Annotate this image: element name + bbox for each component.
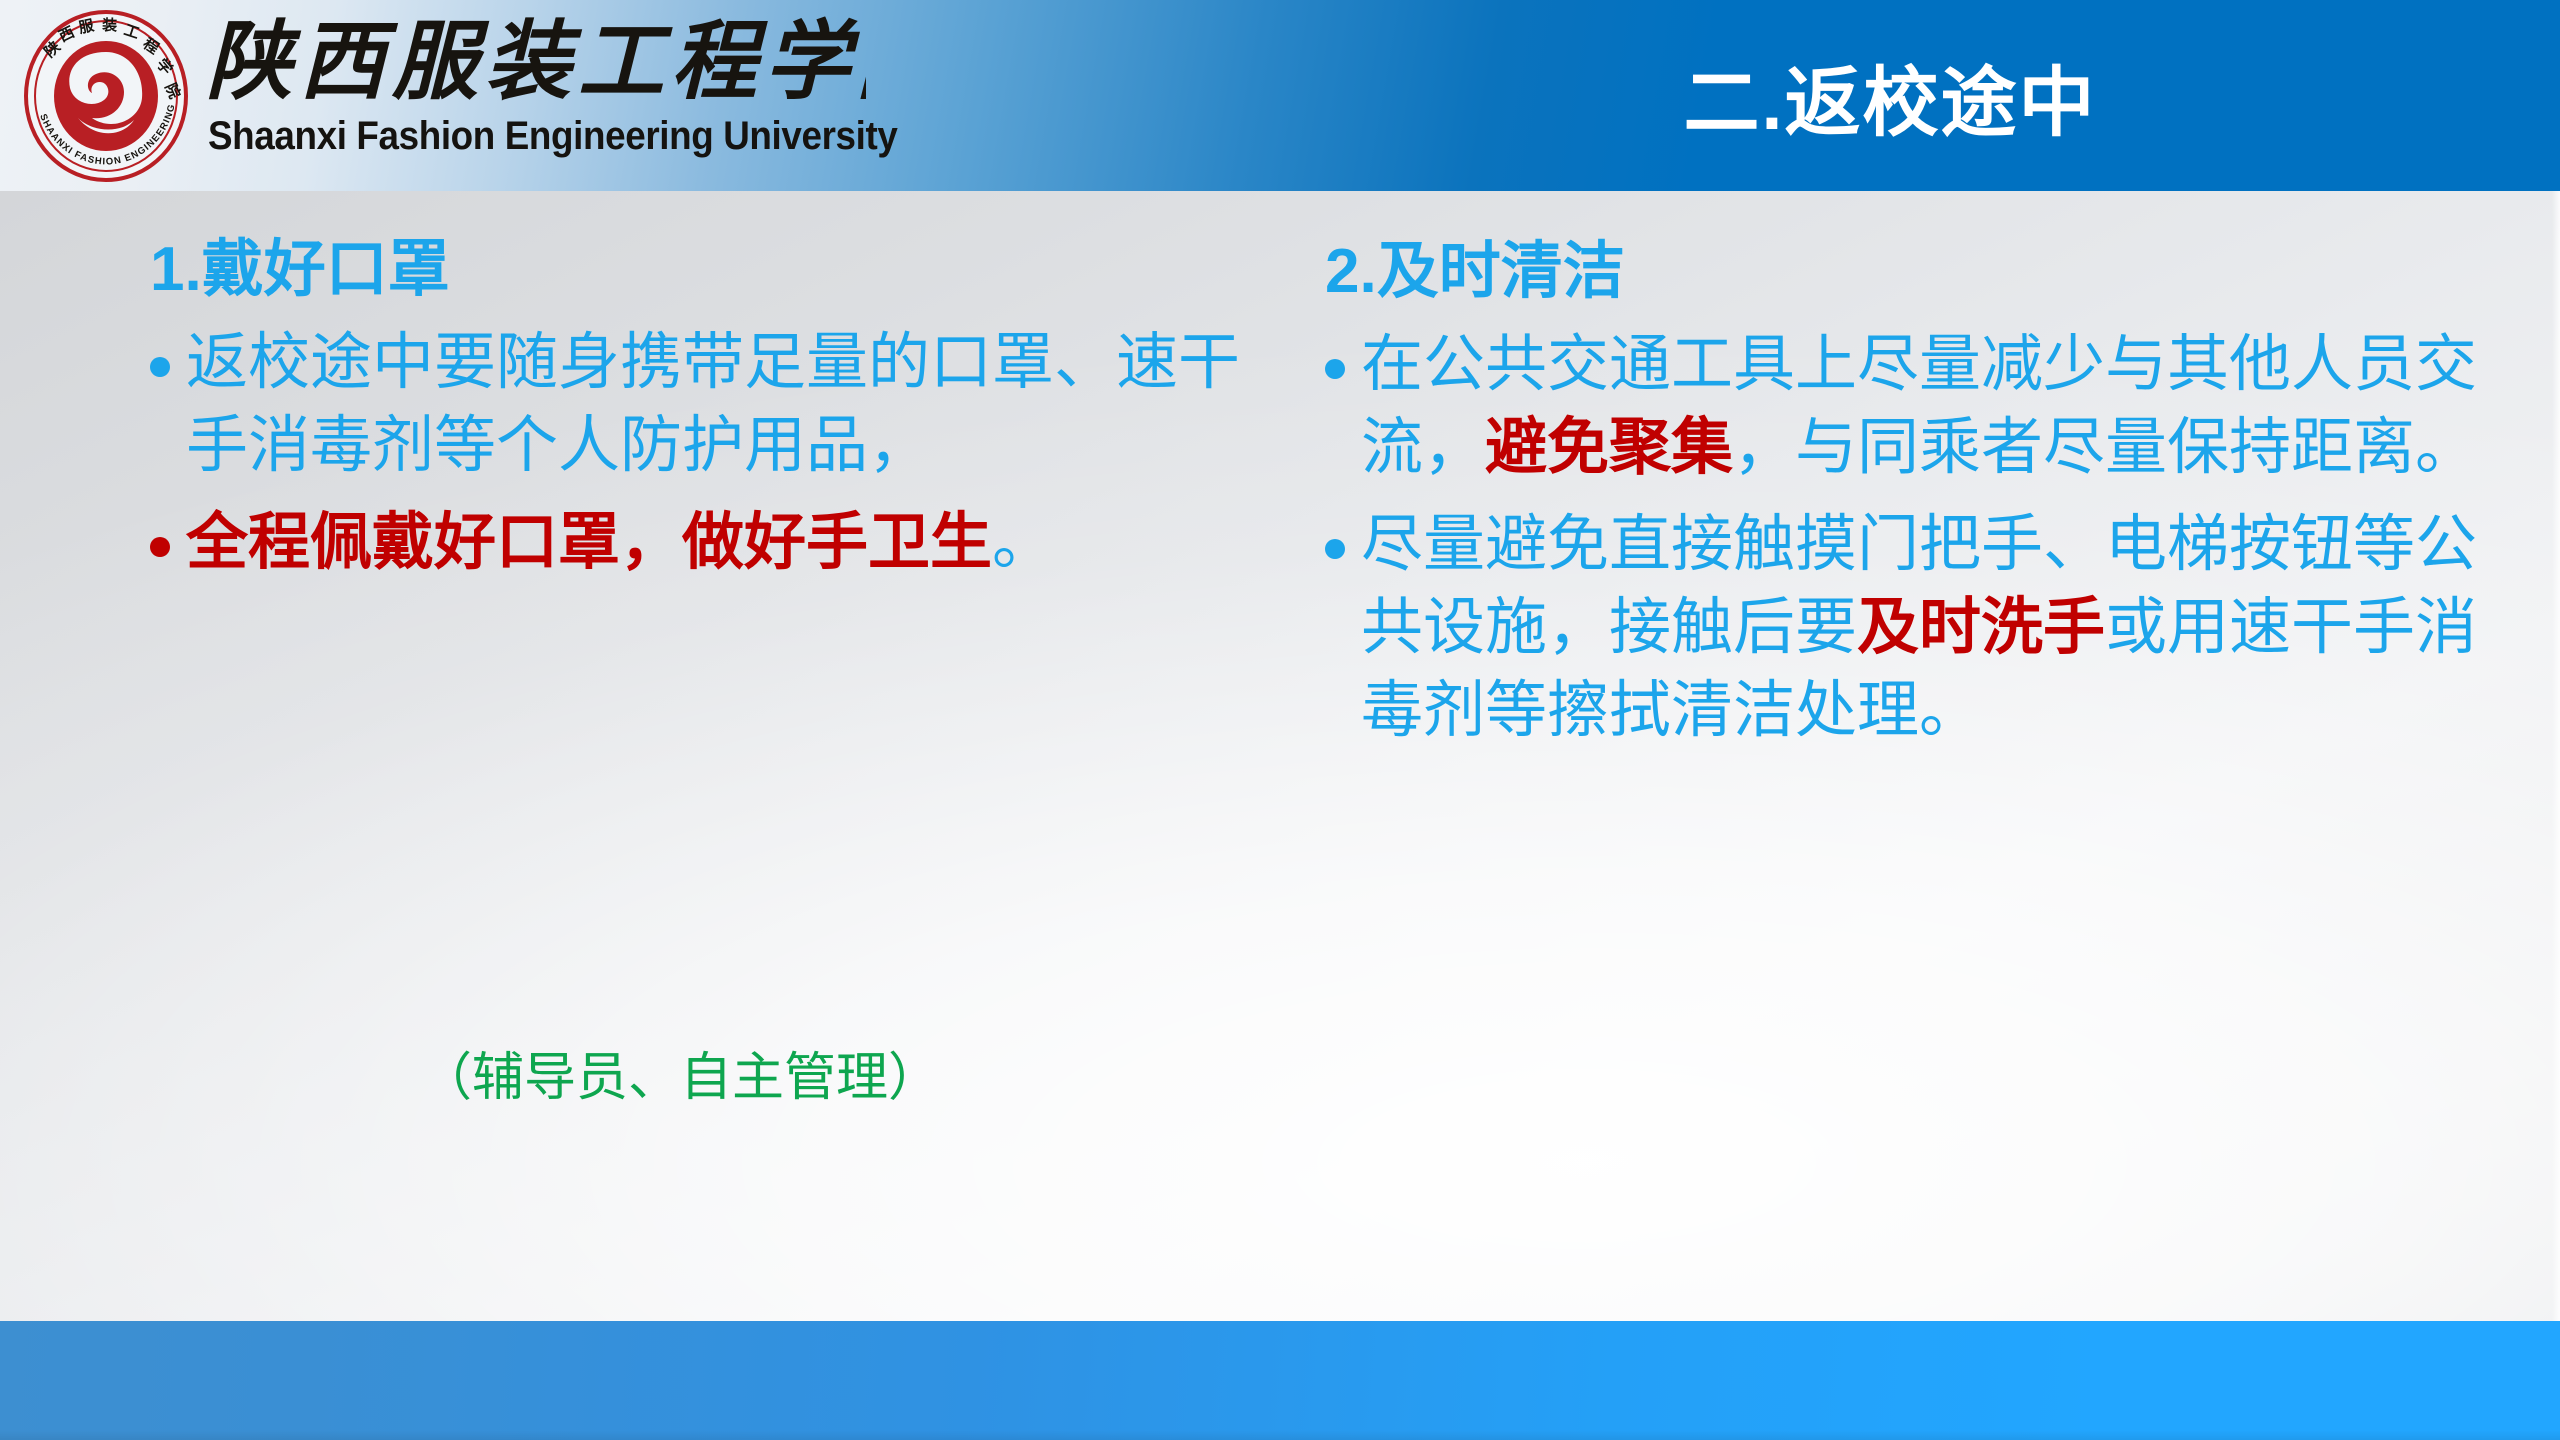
right-bullet-2: 尽量避免直接触摸门把手、电梯按钮等公共设施，接触后要及时洗手或用速干手消毒剂等擦…: [1325, 503, 2500, 752]
left-column: 1.戴好口罩 返校途中要随身携带足量的口罩、速干手消毒剂等个人防护用品， 全程佩…: [150, 191, 1280, 584]
left-bullet-2: 全程佩戴好口罩，做好手卫生。: [150, 501, 1280, 584]
university-logo: 陕 西 服 装 工 程 学 院 SHAANXI FASHION ENGINEER…: [14, 4, 200, 188]
left-column-footnote: （辅导员、自主管理）: [420, 1046, 940, 1110]
bullet-dot-icon: [1325, 539, 1345, 559]
right-bullet-2-text: 尽量避免直接触摸门把手、电梯按钮等公共设施，接触后要及时洗手或用速干手消毒剂等擦…: [1361, 503, 2500, 752]
school-name-chinese: 陕西服装工程学院: [206, 10, 866, 115]
slide: 陕 西 服 装 工 程 学 院 SHAANXI FASHION ENGINEER…: [0, 0, 2560, 1440]
left-bullet-1: 返校途中要随身携带足量的口罩、速干手消毒剂等个人防护用品，: [150, 321, 1280, 487]
slide-footer-bar: [0, 1321, 2560, 1440]
right-bullet-1: 在公共交通工具上尽量减少与其他人员交流，避免聚集，与同乘者尽量保持距离。: [1325, 323, 2500, 489]
left-bullet-2-tail: 。: [992, 508, 1054, 577]
school-name-english: Shaanxi Fashion Engineering University: [208, 112, 897, 160]
left-section-heading: 1.戴好口罩: [150, 191, 1280, 307]
footer-shadow: [0, 1430, 2560, 1440]
right-section-heading: 2.及时清洁: [1325, 191, 2500, 309]
left-bullet-2-highlight: 全程佩戴好口罩，做好手卫生: [186, 508, 992, 577]
right-bullet-1-highlight: 避免聚集: [1485, 413, 1733, 482]
bullet-dot-icon: [150, 357, 170, 377]
right-bullet-1-seg-3: ，与同乘者尽量保持距离。: [1733, 413, 2477, 482]
left-bullet-2-text: 全程佩戴好口罩，做好手卫生。: [186, 501, 1054, 584]
right-bullet-1-text: 在公共交通工具上尽量减少与其他人员交流，避免聚集，与同乘者尽量保持距离。: [1361, 323, 2500, 489]
svg-text:装: 装: [101, 16, 119, 35]
right-column: 2.及时清洁 在公共交通工具上尽量减少与其他人员交流，避免聚集，与同乘者尽量保持…: [1325, 191, 2500, 752]
body-right-edge-highlight: [2552, 191, 2560, 1321]
left-bullet-1-text: 返校途中要随身携带足量的口罩、速干手消毒剂等个人防护用品，: [186, 321, 1280, 487]
right-bullet-2-highlight: 及时洗手: [1857, 593, 2105, 662]
slide-header: 陕 西 服 装 工 程 学 院 SHAANXI FASHION ENGINEER…: [0, 0, 2560, 191]
slide-body: 1.戴好口罩 返校途中要随身携带足量的口罩、速干手消毒剂等个人防护用品， 全程佩…: [0, 191, 2560, 1321]
bullet-dot-icon: [150, 537, 170, 557]
content-columns: 1.戴好口罩 返校途中要随身携带足量的口罩、速干手消毒剂等个人防护用品， 全程佩…: [0, 191, 2560, 1321]
university-emblem-icon: 陕 西 服 装 工 程 学 院 SHAANXI FASHION ENGINEER…: [20, 8, 192, 184]
bullet-dot-icon: [1325, 359, 1345, 379]
slide-title: 二.返校途中: [1300, 0, 2480, 191]
